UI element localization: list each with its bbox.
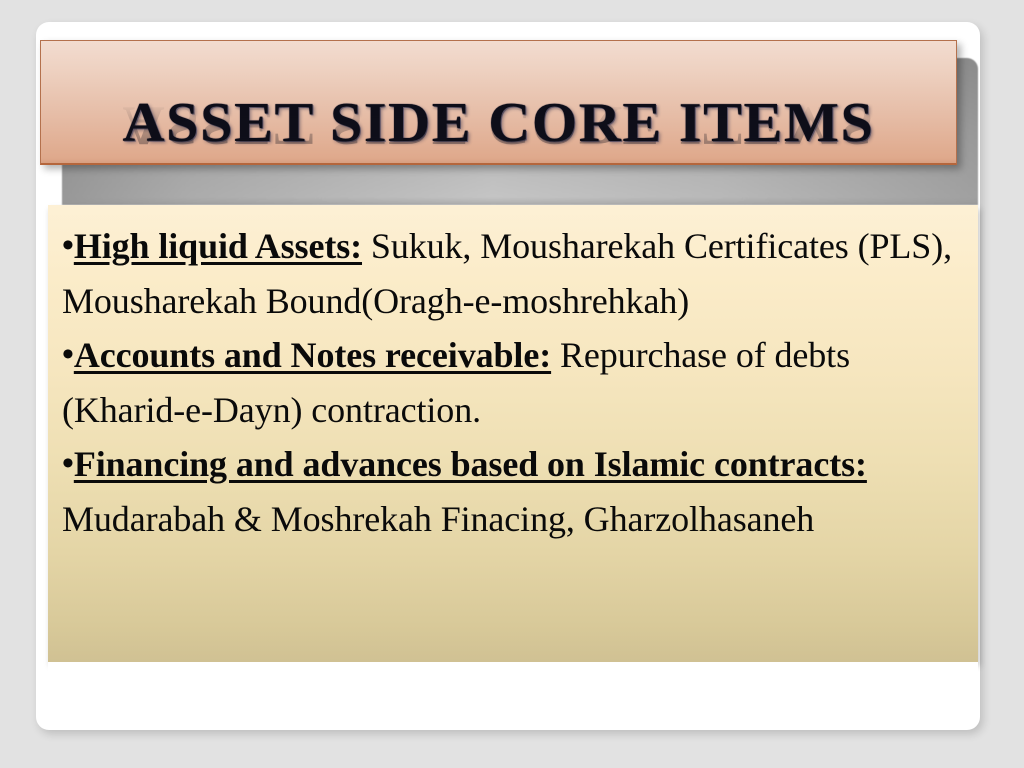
bullet-lead-2: Accounts and Notes receivable: (74, 335, 551, 375)
bullet-item-2: •Accounts and Notes receivable: Repurcha… (62, 328, 956, 437)
bullet-marker-icon: • (62, 227, 74, 264)
slide-footer-blank (48, 662, 978, 722)
bullet-marker-icon: • (62, 336, 74, 373)
slide-title: Asset side core items (40, 95, 957, 151)
bullet-list: •High liquid Assets: Sukuk, Mousharekah … (48, 205, 978, 546)
bullet-lead-3: Financing and advances based on Islamic … (74, 444, 867, 484)
bullet-item-1: •High liquid Assets: Sukuk, Mousharekah … (62, 219, 956, 328)
bullet-marker-icon: • (62, 445, 74, 482)
bullet-item-3: •Financing and advances based on Islamic… (62, 437, 956, 546)
bullet-body-3: Mudarabah & Moshrekah Finacing, Gharzolh… (62, 499, 814, 539)
slide-page: Asset side core items Asset side core it… (0, 0, 1024, 768)
slide-content-area: •High liquid Assets: Sukuk, Mousharekah … (48, 205, 978, 662)
bullet-lead-1: High liquid Assets: (74, 226, 362, 266)
slide-title-bar: Asset side core items Asset side core it… (40, 40, 957, 165)
